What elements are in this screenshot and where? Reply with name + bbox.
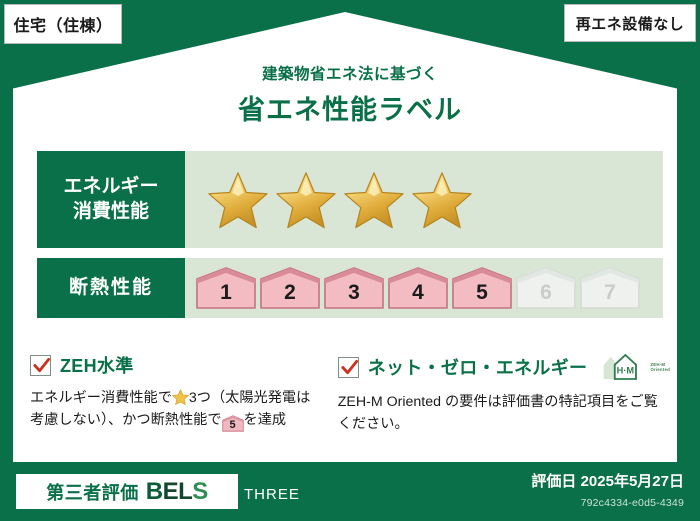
insulation-level-1: 1 (195, 266, 257, 310)
footer-three-label: THREE (244, 486, 300, 503)
star-icon (343, 170, 405, 230)
insulation-level-number: 2 (284, 282, 296, 310)
evaluation-date-value: 2025年5月27日 (581, 473, 684, 490)
zeh-text-part1: エネルギー消費性能で (30, 390, 172, 406)
tag-building-type: 住宅（住棟） (4, 4, 122, 44)
inline-star-icon (172, 389, 189, 406)
row-energy-label: エネルギー 消費性能 (37, 151, 185, 248)
title-subtitle: 建築物省エネ法に基づく (0, 62, 700, 84)
criteria-section: ZEH水準 エネルギー消費性能で 3つ（太陽光発電は考慮しない）、かつ断熱性能で… (30, 352, 670, 436)
net-zero-energy-description: ZEH-M Oriented の要件は評価書の特記項目をご覧ください。 (338, 391, 670, 436)
star-rating (207, 170, 473, 230)
insulation-level-number: 4 (412, 282, 424, 310)
zeh-standard-title: ZEH水準 (60, 352, 134, 378)
insulation-level-number: 1 (220, 282, 232, 310)
evaluation-id: 792c4334-e0d5-4349 (581, 497, 684, 509)
inline-house-badge-icon: 5 (222, 415, 244, 432)
net-zero-energy-checkbox[interactable] (338, 357, 359, 378)
criteria-zeh-header: ZEH水準 (30, 352, 312, 378)
criteria-net-zero-energy: ネット・ゼロ・エネルギー H·M ZEH-M Oriented ZEH-M Or… (338, 352, 670, 436)
row-insulation-label: 断熱性能 (37, 258, 185, 318)
criteria-zeh-standard: ZEH水準 エネルギー消費性能で 3つ（太陽光発電は考慮しない）、かつ断熱性能で… (30, 352, 312, 436)
insulation-level-number: 7 (604, 282, 616, 310)
svg-text:H·M: H·M (617, 365, 635, 375)
bels-letter-b: B (146, 478, 163, 505)
row-energy-label-line2: 消費性能 (73, 200, 149, 224)
insulation-level-number: 5 (476, 282, 488, 310)
bels-letter-e: E (163, 478, 179, 505)
inline-house-badge-value: 5 (222, 415, 244, 436)
star-icon (411, 170, 473, 230)
star-icon (275, 170, 337, 230)
bels-third-party-label: 第三者評価 (46, 479, 139, 505)
criteria-nze-header: ネット・ゼロ・エネルギー H·M ZEH-M Oriented (338, 352, 670, 382)
tag-renewable-energy: 再エネ設備なし (564, 4, 696, 42)
insulation-level-number: 3 (348, 282, 360, 310)
star-icon (207, 170, 269, 230)
title-main: 省エネ性能ラベル (0, 88, 700, 127)
zeh-standard-checkbox[interactable] (30, 355, 51, 376)
bels-badge: 第三者評価 BELS (16, 474, 238, 509)
row-insulation-performance: 断熱性能 1234567 (37, 258, 663, 318)
zeh-m-logo-caption: ZEH-M Oriented (650, 362, 670, 373)
insulation-level-3: 3 (323, 266, 385, 310)
insulation-level-7: 7 (579, 266, 641, 310)
bels-letter-l: L (178, 478, 192, 505)
row-energy-value (185, 151, 663, 248)
row-energy-label-line1: エネルギー (63, 175, 158, 199)
bels-logo: BELS (146, 478, 208, 506)
evaluation-date-label: 評価日 (531, 473, 576, 490)
zeh-m-oriented-logo: H·M ZEH-M Oriented (600, 352, 670, 382)
zeh-standard-description: エネルギー消費性能で 3つ（太陽光発電は考慮しない）、かつ断熱性能で 5を達成 (30, 387, 312, 432)
insulation-level-5: 5 (451, 266, 513, 310)
insulation-level-2: 2 (259, 266, 321, 310)
insulation-level-4: 4 (387, 266, 449, 310)
row-insulation-value: 1234567 (185, 258, 663, 318)
insulation-level-6: 6 (515, 266, 577, 310)
row-energy-performance: エネルギー 消費性能 (37, 151, 663, 248)
energy-label-root: 住宅（住棟） 再エネ設備なし 建築物省エネ法に基づく 省エネ性能ラベル エネルギ… (0, 0, 700, 521)
insulation-level-number: 6 (540, 282, 552, 310)
page-title: 建築物省エネ法に基づく 省エネ性能ラベル (0, 62, 700, 127)
zeh-m-caption-line1: ZEH-M (650, 362, 665, 367)
net-zero-energy-title: ネット・ゼロ・エネルギー (368, 354, 588, 380)
zeh-m-caption-line2: Oriented (650, 367, 670, 372)
bels-letter-s: S (192, 478, 208, 505)
zeh-text-part3: を達成 (244, 412, 287, 428)
insulation-level-scale: 1234567 (195, 266, 641, 310)
evaluation-date: 評価日 2025年5月27日 (531, 470, 684, 491)
